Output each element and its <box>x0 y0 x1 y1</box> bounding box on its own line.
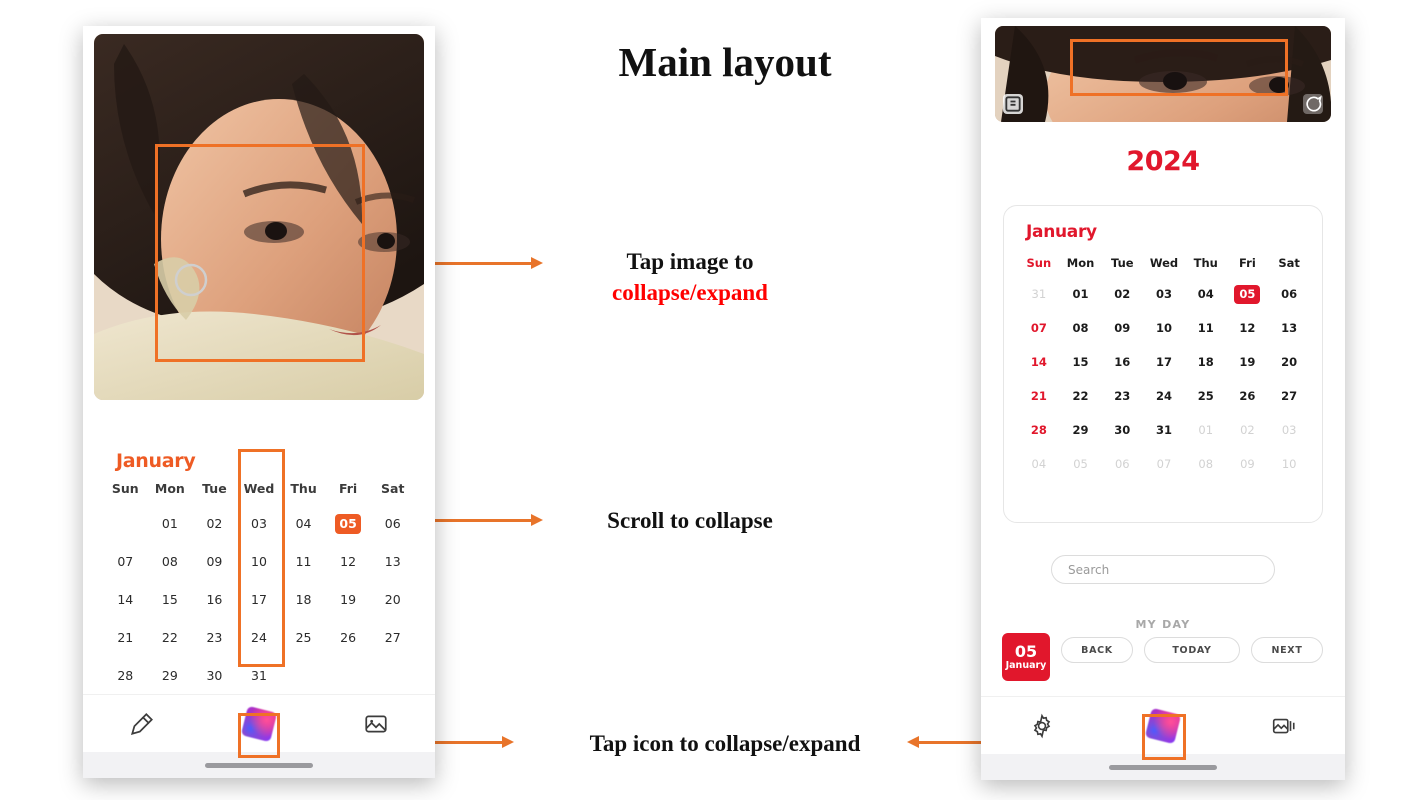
annotation-tap-image: Tap image to collapse/expand <box>560 246 820 308</box>
calendar-day-label: 06 <box>1111 455 1133 474</box>
calendar-month-label: January <box>1026 222 1097 242</box>
calendar-day-label: 08 <box>158 552 182 572</box>
calendar-month-label: January <box>116 450 195 472</box>
calendar-day-label: 14 <box>113 590 137 610</box>
calendar-day-label: 24 <box>1153 387 1175 406</box>
calendar-day-label: 31 <box>247 666 271 686</box>
weekday-header: Fri <box>326 481 371 496</box>
calendar-day-cell[interactable]: 13 <box>1268 319 1310 338</box>
calendar-day-cell[interactable]: 09 <box>1101 319 1143 338</box>
calendar-day-label: 09 <box>1236 455 1258 474</box>
next-button[interactable]: NEXT <box>1251 637 1323 663</box>
calendar-day-label: 01 <box>1195 421 1217 440</box>
calendar-day-label: 27 <box>1278 387 1300 406</box>
calendar-day-cell[interactable]: 20 <box>1268 353 1310 372</box>
calendar-day-cell[interactable]: 26 <box>326 628 371 648</box>
calendar-day-label: 05 <box>1070 455 1092 474</box>
weekday-header: Fri <box>1227 256 1269 270</box>
calendar-cell-empty: 00 <box>370 666 415 686</box>
calendar-day-label: 15 <box>158 590 182 610</box>
calendar-day-cell[interactable]: 06 <box>370 514 415 534</box>
calendar-day-label: 02 <box>1236 421 1258 440</box>
nav-item-photos[interactable] <box>1224 713 1345 739</box>
calendar-day-label: 21 <box>113 628 137 648</box>
today-button[interactable]: TODAY <box>1144 637 1240 663</box>
calendar-day-label: 26 <box>1236 387 1258 406</box>
annotation-scroll-to-collapse: Scroll to collapse <box>560 505 820 536</box>
calendar-day-label: 03 <box>1153 285 1175 304</box>
calendar-day-label: 10 <box>1278 455 1300 474</box>
annotation-line-1: Tap icon to collapse/expand <box>590 731 861 756</box>
calendar-day-cell[interactable]: 15 <box>1060 353 1102 372</box>
day-nav-buttons[interactable]: BACK TODAY NEXT <box>1061 637 1323 663</box>
phone-screen-right: 2024 January SunMonTueWedThuFriSat310102… <box>981 18 1345 780</box>
calendar-day-cell[interactable]: 09 <box>192 552 237 572</box>
calendar-day-label: 15 <box>1070 353 1092 372</box>
calendar-day-cell-outside[interactable]: 10 <box>1268 455 1310 474</box>
calendar-day-label: 29 <box>158 666 182 686</box>
weekday-header: Mon <box>1060 256 1102 270</box>
calendar-day-cell[interactable]: 05 <box>1227 285 1269 304</box>
calendar-day-cell-outside[interactable]: 31 <box>1018 285 1060 304</box>
calendar-day-label: 22 <box>1070 387 1092 406</box>
calendar-day-label: 20 <box>381 590 405 610</box>
calendar-day-cell[interactable]: 04 <box>281 514 326 534</box>
calendar-day-cell[interactable]: 08 <box>148 552 193 572</box>
calendar-day-cell[interactable]: 16 <box>1101 353 1143 372</box>
calendar-day-label: 28 <box>113 666 137 686</box>
calendar-day-cell[interactable]: 08 <box>1060 319 1102 338</box>
calendar-day-cell[interactable]: 13 <box>370 552 415 572</box>
weekday-header: Mon <box>148 481 193 496</box>
calendar-day-cell[interactable]: 11 <box>281 552 326 572</box>
calendar-day-cell[interactable]: 14 <box>103 590 148 610</box>
calendar-day-label: 05 <box>335 514 360 534</box>
annotation-tap-icon: Tap icon to collapse/expand <box>540 728 910 759</box>
annotation-line-2: collapse/expand <box>560 277 820 308</box>
weekday-header: Tue <box>192 481 237 496</box>
calendar-day-label: 20 <box>1278 353 1300 372</box>
calendar-day-cell[interactable]: 22 <box>148 628 193 648</box>
nav-item-image[interactable] <box>318 711 435 737</box>
calendar-cell-empty: 00 <box>281 666 326 686</box>
weekday-header: Sun <box>103 481 148 496</box>
calendar-day-label: 23 <box>1111 387 1133 406</box>
calendar-day-cell[interactable]: 07 <box>1018 319 1060 338</box>
calendar-day-cell[interactable]: 30 <box>1101 421 1143 440</box>
phone-mockup-collapsed: 2024 January SunMonTueWedThuFriSat310102… <box>981 18 1345 780</box>
calendar-day-cell[interactable]: 21 <box>103 628 148 648</box>
calendar-day-label: 14 <box>1028 353 1050 372</box>
calendar-grid[interactable]: SunMonTueWedThuFriSat3101020304050607080… <box>1018 256 1310 474</box>
calendar-day-cell[interactable]: 18 <box>1185 353 1227 372</box>
calendar-day-cell[interactable]: 17 <box>1143 353 1185 372</box>
calendar-day-label: 13 <box>381 552 405 572</box>
calendar-day-cell-outside[interactable]: 08 <box>1185 455 1227 474</box>
calendar-day-label: 02 <box>1111 285 1133 304</box>
calendar-day-cell[interactable]: 18 <box>281 590 326 610</box>
calendar-day-cell[interactable]: 21 <box>1018 387 1060 406</box>
weekday-header: Sat <box>370 481 415 496</box>
calendar-card: January SunMonTueWedThuFriSat31010203040… <box>1003 205 1323 523</box>
calendar-cell-empty: 00 <box>326 666 371 686</box>
calendar-day-cell[interactable]: 07 <box>103 552 148 572</box>
calendar-day-label: 28 <box>1028 421 1050 440</box>
hero-badge-right[interactable] <box>1303 94 1323 114</box>
weekday-header: Tue <box>1101 256 1143 270</box>
calendar-day-label: 30 <box>202 666 226 686</box>
calendar-day-cell[interactable]: 26 <box>1227 387 1269 406</box>
calendar-cell-empty: 00 <box>103 514 148 534</box>
my-day-label: MY DAY <box>981 618 1345 631</box>
calendar-day-cell[interactable]: 10 <box>1143 319 1185 338</box>
calendar-day-cell[interactable]: 31 <box>1143 421 1185 440</box>
calendar-day-label: 01 <box>1070 285 1092 304</box>
calendar-day-label: 13 <box>1278 319 1300 338</box>
calendar-day-label: 16 <box>202 590 226 610</box>
calendar-day-cell[interactable]: 25 <box>1185 387 1227 406</box>
calendar-day-cell[interactable]: 02 <box>1101 285 1143 304</box>
calendar-day-label: 05 <box>1234 285 1260 304</box>
calendar-day-label: 25 <box>292 628 316 648</box>
calendar-day-cell[interactable]: 22 <box>1060 387 1102 406</box>
calendar-day-cell[interactable]: 25 <box>281 628 326 648</box>
slide-canvas: Main layout Tap image to collapse/expand… <box>0 0 1422 800</box>
highlight-box-collapsed-image <box>1070 39 1288 96</box>
calendar-day-label: 19 <box>1236 353 1258 372</box>
calendar-day-label: 31 <box>1028 285 1050 304</box>
calendar-day-cell-outside[interactable]: 07 <box>1143 455 1185 474</box>
calendar-day-label: 10 <box>1153 319 1175 338</box>
calendar-day-cell-outside[interactable]: 04 <box>1018 455 1060 474</box>
calendar-day-cell[interactable]: 14 <box>1018 353 1060 372</box>
hero-badge-left[interactable] <box>1003 94 1023 114</box>
highlight-box-calendar-column <box>238 449 285 667</box>
calendar-day-label: 08 <box>1070 319 1092 338</box>
calendar-day-label: 16 <box>1111 353 1133 372</box>
calendar-day-label: 26 <box>336 628 360 648</box>
home-indicator[interactable] <box>205 763 313 768</box>
card-icon <box>1003 94 1023 114</box>
photos-icon <box>1271 713 1297 739</box>
calendar-day-label: 11 <box>1195 319 1217 338</box>
calendar-day-cell[interactable]: 29 <box>148 666 193 686</box>
calendar-day-label: 01 <box>158 514 182 534</box>
calendar-day-cell-outside[interactable]: 05 <box>1060 455 1102 474</box>
calendar-day-cell[interactable]: 11 <box>1185 319 1227 338</box>
calendar-day-cell[interactable]: 12 <box>326 552 371 572</box>
highlight-box-hero-image <box>155 144 365 362</box>
calendar-day-cell[interactable]: 23 <box>1101 387 1143 406</box>
weekday-header: Sun <box>1018 256 1060 270</box>
home-indicator[interactable] <box>1109 765 1217 770</box>
calendar-day-cell[interactable]: 30 <box>192 666 237 686</box>
weekday-header: Thu <box>281 481 326 496</box>
highlight-box-left-nav-logo <box>238 713 280 758</box>
calendar-day-label: 09 <box>202 552 226 572</box>
image-icon <box>363 711 389 737</box>
weekday-header: Wed <box>1143 256 1185 270</box>
calendar-day-label: 18 <box>292 590 316 610</box>
calendar-day-cell[interactable]: 19 <box>1227 353 1269 372</box>
calendar-day-cell-outside[interactable]: 09 <box>1227 455 1269 474</box>
calendar-day-label: 11 <box>292 552 316 572</box>
calendar-day-cell[interactable]: 27 <box>1268 387 1310 406</box>
calendar-day-label: 25 <box>1195 387 1217 406</box>
calendar-day-label: 31 <box>1153 421 1175 440</box>
calendar-day-cell[interactable]: 01 <box>148 514 193 534</box>
calendar-day-cell[interactable]: 31 <box>237 666 282 686</box>
annotation-line-1: Scroll to collapse <box>607 508 773 533</box>
highlight-box-right-nav-logo <box>1142 714 1186 760</box>
calendar-day-cell-outside[interactable]: 01 <box>1185 421 1227 440</box>
calendar-day-cell[interactable]: 23 <box>192 628 237 648</box>
calendar-day-label: 23 <box>202 628 226 648</box>
calendar-day-label: 18 <box>1195 353 1217 372</box>
calendar-day-cell[interactable]: 15 <box>148 590 193 610</box>
calendar-day-label: 29 <box>1070 421 1092 440</box>
weekday-header: Thu <box>1185 256 1227 270</box>
calendar-day-cell[interactable]: 20 <box>370 590 415 610</box>
calendar-day-label: 08 <box>1195 455 1217 474</box>
calendar-day-cell[interactable]: 03 <box>1143 285 1185 304</box>
year-label: 2024 <box>981 146 1345 177</box>
calendar-day-label: 02 <box>202 514 226 534</box>
calendar-day-cell[interactable]: 27 <box>370 628 415 648</box>
calendar-day-cell-outside[interactable]: 03 <box>1268 421 1310 440</box>
calendar-day-cell[interactable]: 24 <box>1143 387 1185 406</box>
calendar-day-cell[interactable]: 28 <box>1018 421 1060 440</box>
calendar-day-cell[interactable]: 29 <box>1060 421 1102 440</box>
comment-icon <box>1303 94 1323 114</box>
calendar-day-cell[interactable]: 02 <box>192 514 237 534</box>
badge-month: January <box>1006 660 1047 671</box>
back-button[interactable]: BACK <box>1061 637 1133 663</box>
page-title: Main layout <box>565 38 885 86</box>
calendar-day-label: 12 <box>1236 319 1258 338</box>
selected-day-badge[interactable]: 05 January <box>1002 633 1050 681</box>
calendar-day-label: 07 <box>1153 455 1175 474</box>
calendar-day-cell[interactable]: 19 <box>326 590 371 610</box>
calendar-day-cell[interactable]: 28 <box>103 666 148 686</box>
calendar-day-cell[interactable]: 16 <box>192 590 237 610</box>
gear-icon <box>1029 713 1055 739</box>
calendar-day-label: 30 <box>1111 421 1133 440</box>
calendar-day-cell[interactable]: 12 <box>1227 319 1269 338</box>
brush-icon <box>129 711 155 737</box>
calendar-day-label: 03 <box>1278 421 1300 440</box>
calendar-day-cell[interactable]: 05 <box>326 514 371 534</box>
calendar-day-cell-outside[interactable]: 02 <box>1227 421 1269 440</box>
search-input[interactable] <box>1052 563 1274 577</box>
calendar-day-label: 12 <box>336 552 360 572</box>
calendar-day-label: 07 <box>1028 319 1050 338</box>
calendar-day-label: 17 <box>1153 353 1175 372</box>
calendar-day-label: 22 <box>158 628 182 648</box>
nav-item-brush[interactable] <box>83 711 200 737</box>
calendar-day-label: 07 <box>113 552 137 572</box>
calendar-day-label: 04 <box>1028 455 1050 474</box>
nav-item-settings[interactable] <box>981 713 1102 739</box>
calendar-day-cell[interactable]: 06 <box>1268 285 1310 304</box>
search-field[interactable] <box>1051 555 1275 584</box>
calendar-day-label: 04 <box>292 514 316 534</box>
badge-day: 05 <box>1015 643 1037 661</box>
calendar-day-label: 06 <box>1278 285 1300 304</box>
calendar-day-cell[interactable]: 01 <box>1060 285 1102 304</box>
calendar-day-label: 21 <box>1028 387 1050 406</box>
calendar-day-cell[interactable]: 04 <box>1185 285 1227 304</box>
calendar-day-label: 27 <box>381 628 405 648</box>
annotation-line-1: Tap image to <box>627 249 754 274</box>
calendar-day-label: 09 <box>1111 319 1133 338</box>
calendar-day-label: 04 <box>1195 285 1217 304</box>
calendar-day-label: 06 <box>381 514 405 534</box>
calendar-day-label: 19 <box>336 590 360 610</box>
calendar-day-cell-outside[interactable]: 06 <box>1101 455 1143 474</box>
weekday-header: Sat <box>1268 256 1310 270</box>
